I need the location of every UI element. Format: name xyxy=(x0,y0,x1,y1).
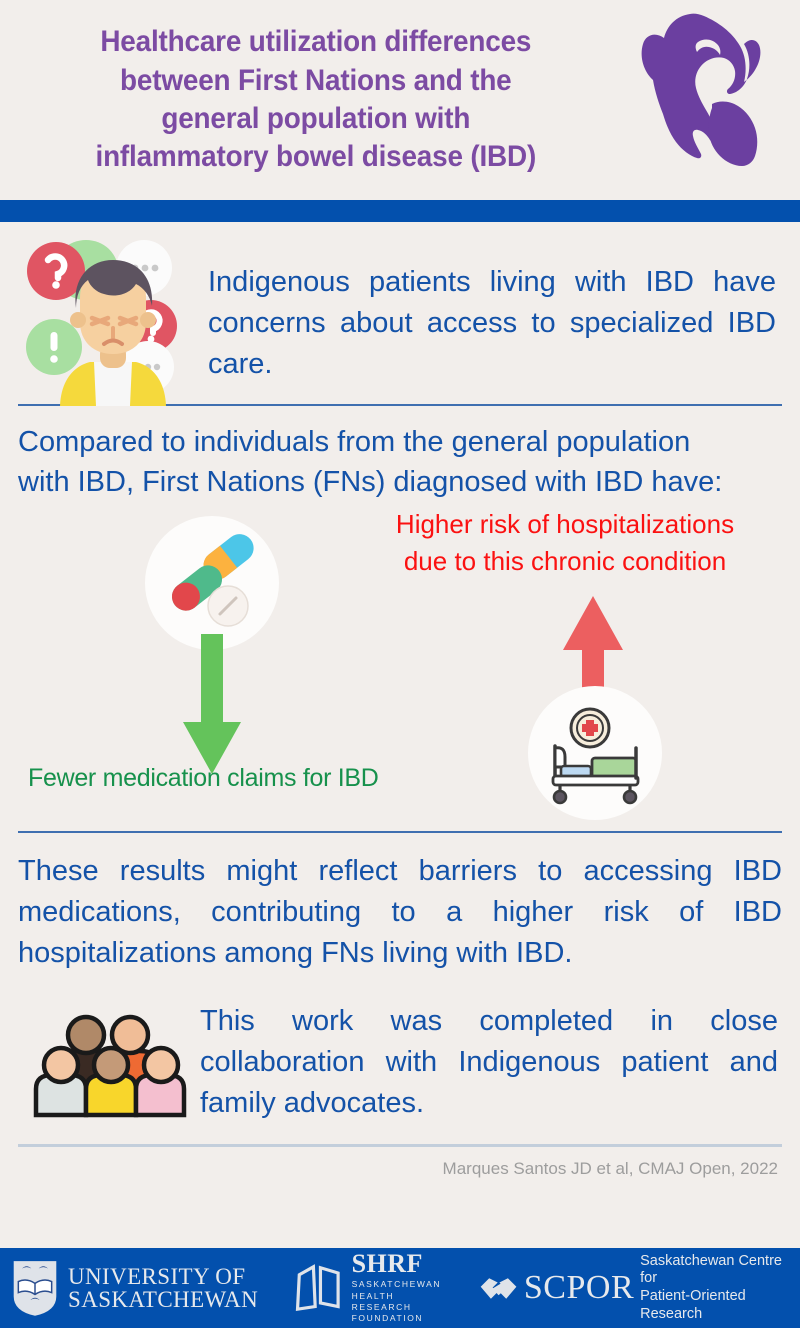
collaboration-text: This work was completed in close collabo… xyxy=(200,999,782,1125)
shrf-wordmark: SHRF SASKATCHEWAN HEALTH RESEARCH FOUNDA… xyxy=(352,1251,457,1325)
usask-line-2: SASKATCHEWAN xyxy=(68,1288,258,1311)
hospitalization-finding-label: Higher risk of hospitalizations due to t… xyxy=(350,506,780,580)
group-of-people-icon xyxy=(18,999,200,1123)
scpor-sub-line-1: Saskatchewan Centre for xyxy=(640,1253,800,1288)
scpor-tagline: Saskatchewan Centre for Patient-Oriented… xyxy=(640,1253,800,1324)
hospitalization-label-line-2: due to this chronic condition xyxy=(350,543,780,580)
handshake-icon xyxy=(479,1272,518,1305)
down-arrow-icon xyxy=(178,634,246,776)
medication-finding-label: Fewer medication claims for IBD xyxy=(28,764,379,793)
section-collaboration: This work was completed in close collabo… xyxy=(0,981,800,1125)
bison-head-logo xyxy=(634,8,764,193)
usask-line-1: UNIVERSITY OF xyxy=(68,1265,258,1288)
comparison-line-2: with IBD, First Nations (FNs) diagnosed … xyxy=(18,462,782,502)
section-patient-concerns: Indigenous patients living with IBD have… xyxy=(0,222,800,404)
title-line-1: Healthcare utilization differences xyxy=(27,23,604,61)
scpor-sub-line-2: Patient-Oriented Research xyxy=(640,1288,800,1323)
scpor-logo: SCPOR Saskatchewan Centre for Patient-Or… xyxy=(479,1253,800,1324)
pills-icon xyxy=(145,516,279,650)
footer-logos: UNIVERSITY OF SASKATCHEWAN SHRF SASKATCH… xyxy=(0,1248,800,1328)
poster-header: Healthcare utilization differences betwe… xyxy=(0,0,800,200)
shrf-logo: SHRF SASKATCHEWAN HEALTH RESEARCH FOUNDA… xyxy=(294,1251,457,1325)
shrf-acronym: SHRF xyxy=(352,1251,457,1277)
infographic-poster: Healthcare utilization differences betwe… xyxy=(0,0,800,1328)
shrf-sub-line-1: SASKATCHEWAN xyxy=(352,1279,457,1290)
title-line-2: between First Nations and the xyxy=(27,62,604,100)
university-of-saskatchewan-logo: UNIVERSITY OF SASKATCHEWAN xyxy=(10,1258,268,1318)
section-findings: Fewer medication claims for IBD Higher r… xyxy=(0,506,800,831)
worried-patient-with-question-bubbles-icon xyxy=(18,236,208,406)
results-text: These results might reflect barriers to … xyxy=(18,851,782,975)
section-results: These results might reflect barriers to … xyxy=(0,833,800,981)
title-line-3: general population with xyxy=(27,100,604,138)
shrf-sub-line-3: FOUNDATION xyxy=(352,1313,457,1324)
usask-wordmark: UNIVERSITY OF SASKATCHEWAN xyxy=(68,1265,258,1311)
title-line-4: inflammatory bowel disease (IBD) xyxy=(27,138,604,176)
shrf-sub-line-2: HEALTH RESEARCH xyxy=(352,1291,457,1314)
header-accent-bar xyxy=(0,200,800,222)
patient-concerns-text: Indigenous patients living with IBD have… xyxy=(208,236,782,386)
hospital-bed-icon xyxy=(528,686,662,820)
citation: Marques Santos JD et al, CMAJ Open, 2022 xyxy=(0,1147,800,1179)
page-title: Healthcare utilization differences betwe… xyxy=(22,23,604,177)
scpor-acronym: SCPOR xyxy=(524,1271,634,1305)
section-comparison-intro: Compared to individuals from the general… xyxy=(0,406,800,506)
shrf-mark-icon xyxy=(294,1262,343,1314)
hospitalization-label-line-1: Higher risk of hospitalizations xyxy=(350,506,780,543)
usask-shield-icon xyxy=(10,1258,60,1318)
comparison-line-1: Compared to individuals from the general… xyxy=(18,422,782,462)
